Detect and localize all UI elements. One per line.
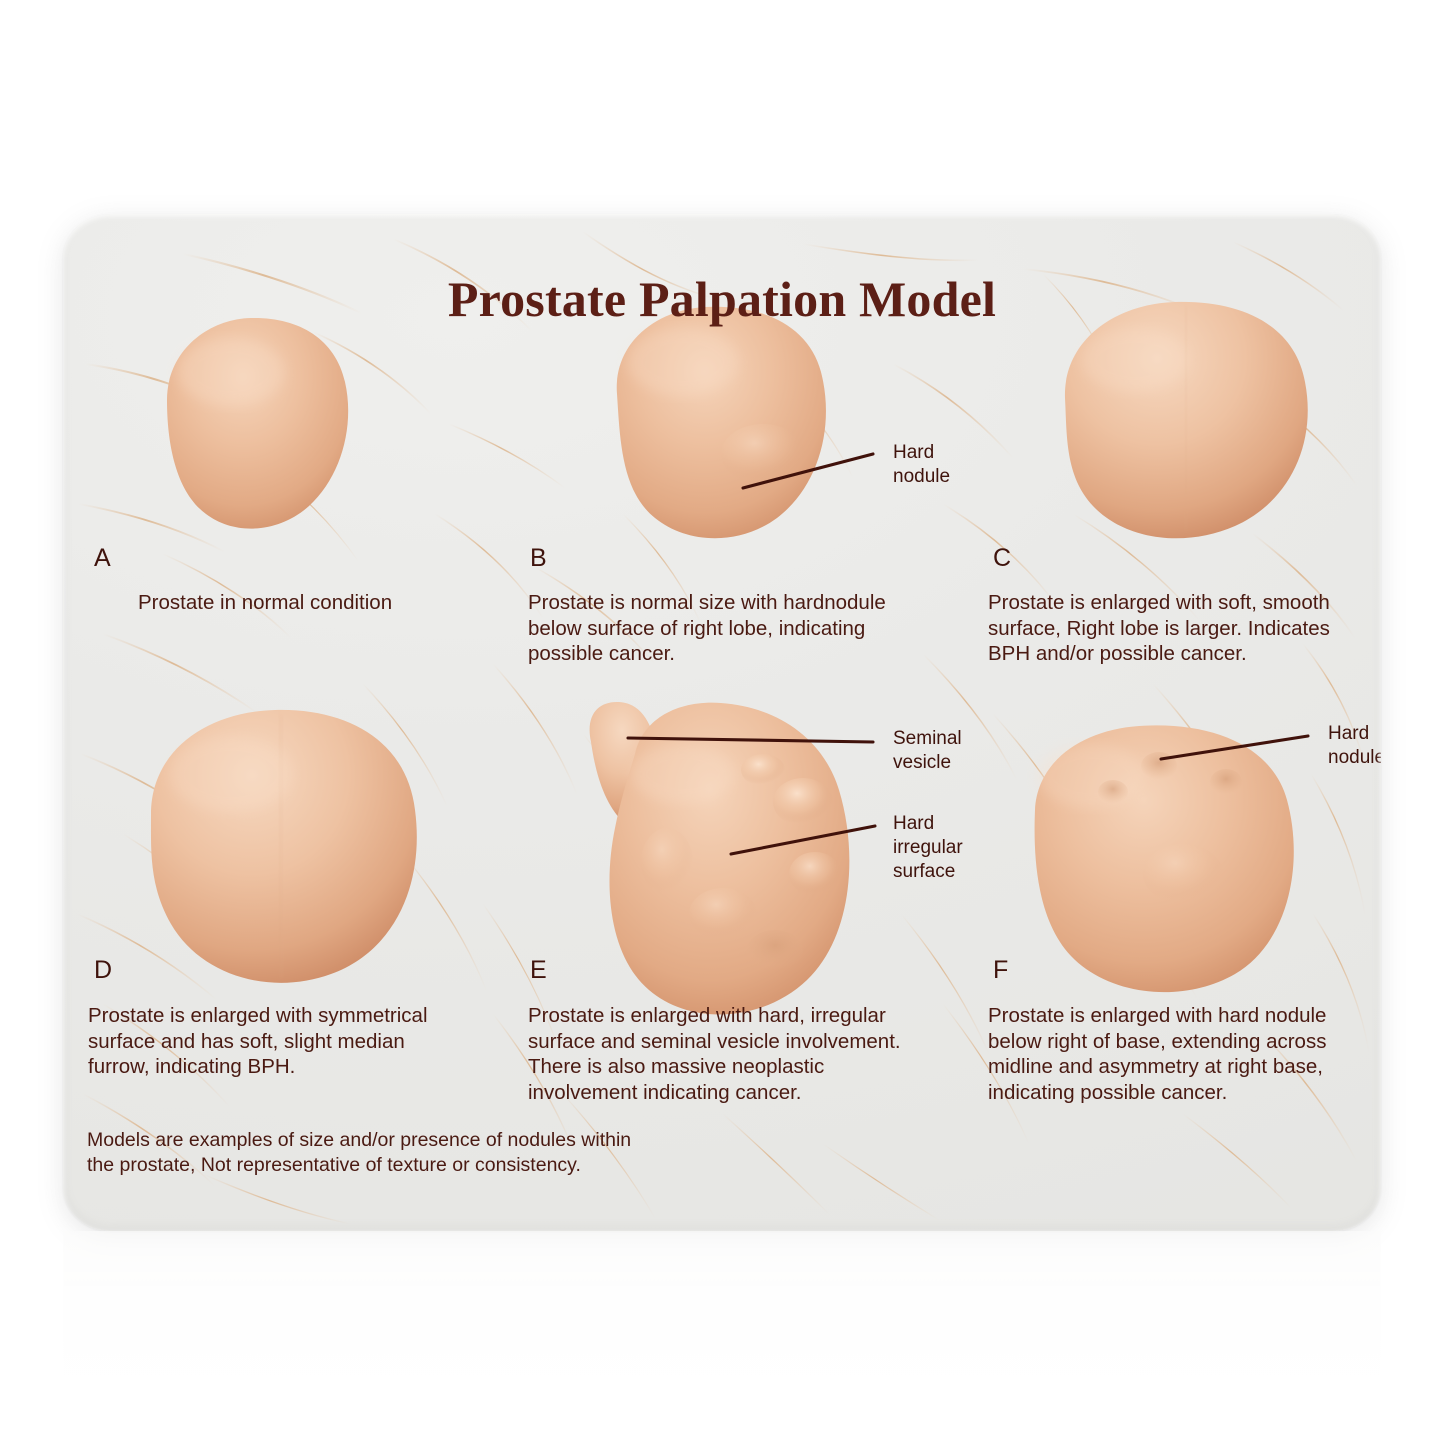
- panel-letter-c: C: [993, 544, 1011, 573]
- panel-caption-f: Prostate is enlarged with hard nodule be…: [988, 1003, 1381, 1105]
- disclaimer-note: Models are examples of size and/or prese…: [87, 1128, 707, 1178]
- panel-letter-d: D: [94, 956, 112, 985]
- panel-letter-b: B: [530, 544, 547, 573]
- panel-caption-c: Prostate is enlarged with soft, smooth s…: [988, 590, 1368, 667]
- reflection-content: Models are examples of size and/or prese…: [63, 1231, 1381, 1441]
- page-title: Prostate Palpation Model: [63, 270, 1381, 328]
- annotation-seminal-vesicle: Seminal vesicle: [893, 727, 962, 775]
- model-board-container: Prostate Palpation Model A Prostate in n…: [0, 0, 1445, 1445]
- prostate-model-hard-nodule-shape: [617, 307, 826, 539]
- panel-letter-a: A: [94, 544, 111, 573]
- panel-letter-e: E: [530, 956, 547, 985]
- prostate-model-asymmetric-nodule-shape: [1035, 725, 1294, 992]
- prostate-model-normal-shape: [167, 318, 348, 529]
- annotation-hard-nodule-f: Hard nodule: [1328, 722, 1381, 770]
- prostate-model-seminal-vesicle-shape: [590, 702, 850, 1015]
- reflection-fade-overlay: [63, 1231, 1381, 1441]
- prostate-model-enlarged-smooth-shape: [1065, 302, 1308, 538]
- annotation-hard-nodule: Hard nodule: [893, 441, 950, 489]
- board-reflection: Models are examples of size and/or prese…: [63, 1231, 1381, 1441]
- reflection-board-surface: [63, 1231, 1381, 1441]
- panel-letter-f: F: [993, 956, 1008, 985]
- model-board: Prostate Palpation Model A Prostate in n…: [63, 214, 1381, 1231]
- prostate-model-symmetrical-bph-shape: [151, 710, 417, 983]
- panel-caption-a: Prostate in normal condition: [138, 590, 538, 616]
- panel-caption-e: Prostate is enlarged with hard, irregula…: [528, 1003, 928, 1105]
- panel-caption-b: Prostate is normal size with hardnodule …: [528, 590, 908, 667]
- panel-caption-d: Prostate is enlarged with symmetrical su…: [88, 1003, 488, 1080]
- annotation-hard-irregular-surface: Hard irregular surface: [893, 812, 963, 884]
